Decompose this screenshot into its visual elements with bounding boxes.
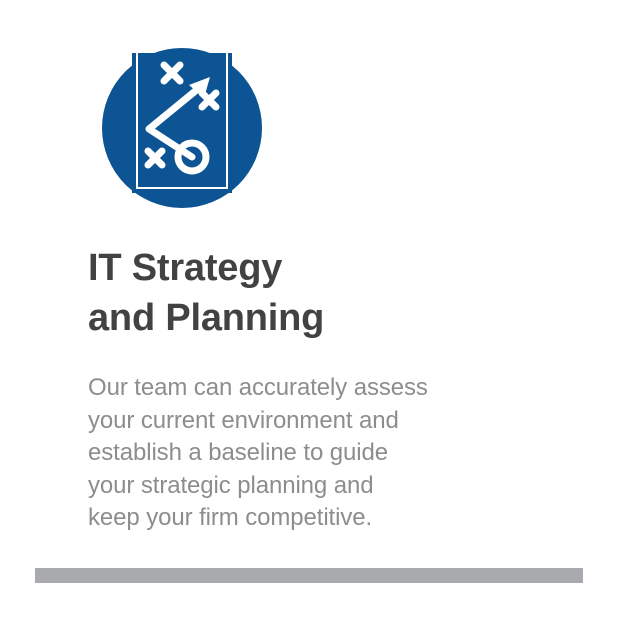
- page-title: IT Strategy and Planning: [88, 243, 548, 343]
- page-title-line-2: and Planning: [88, 293, 548, 343]
- strategy-playbook-svg: [86, 32, 286, 232]
- service-card: IT Strategy and Planning Our team can ac…: [0, 0, 625, 625]
- description-line-3: establish a baseline to guide: [88, 437, 558, 470]
- description-line-5: keep your firm competitive.: [88, 502, 558, 535]
- divider-bar: [35, 568, 583, 583]
- icon-x-mark-upper-right: [202, 93, 216, 107]
- strategy-playbook-icon: [86, 32, 286, 232]
- description-line-1: Our team can accurately assess: [88, 372, 558, 405]
- icon-x-mark-lower-left: [148, 151, 162, 165]
- description-line-2: your current environment and: [88, 405, 558, 438]
- description-text: Our team can accurately assess your curr…: [88, 372, 558, 535]
- icon-document-panel: [132, 53, 232, 193]
- description-line-4: your strategic planning and: [88, 470, 558, 503]
- page-title-line-1: IT Strategy: [88, 243, 548, 293]
